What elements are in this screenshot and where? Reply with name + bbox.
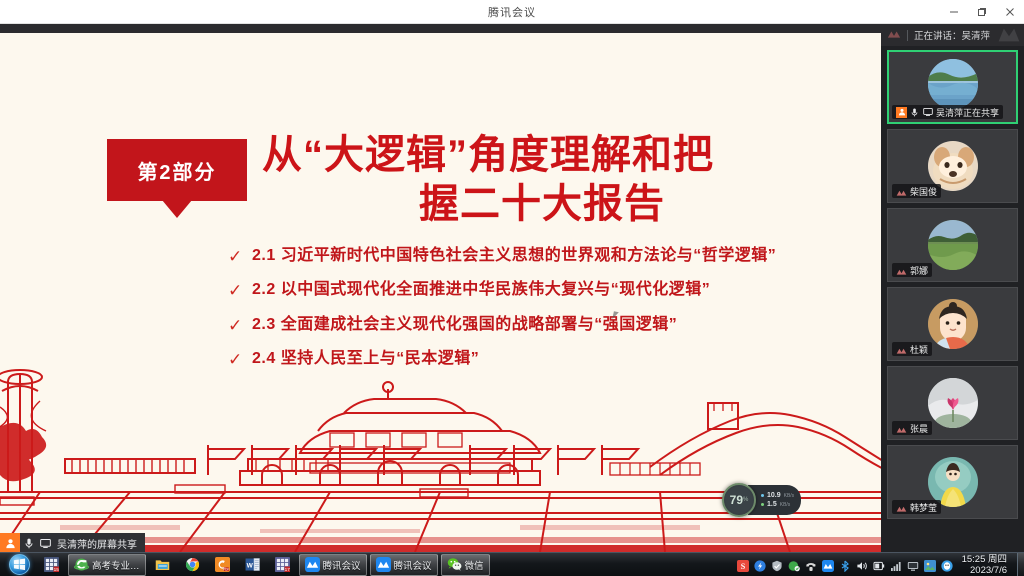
shield-icon[interactable] — [771, 559, 783, 571]
svg-text:15: 15 — [54, 567, 59, 572]
system-tray: S — [737, 554, 1013, 576]
maximize-restore-button[interactable] — [968, 0, 996, 24]
window-controls — [940, 0, 1024, 24]
phone-icon[interactable] — [805, 559, 817, 571]
slide-bullet-list: ✓ 2.1 习近平新时代中国特色社会主义思想的世界观和方法论与“哲学逻辑” ✓ … — [228, 246, 868, 383]
svg-text:S: S — [740, 562, 745, 571]
shared-screen-area[interactable]: 第2部分 从“大逻辑”角度理解和把 握二十大报告 ✓ 2.1 习近平新时代中国特… — [0, 33, 881, 552]
tiananmen-papercut-illustration — [0, 367, 881, 552]
presenter-avatar-icon — [896, 107, 907, 118]
avatar — [928, 299, 978, 349]
taskbar-item-tiles-app-2[interactable]: 17 — [269, 554, 296, 576]
taskbar-item-browser-window[interactable]: 高考专业… — [68, 554, 146, 576]
meeting-body: 第2部分 从“大逻辑”角度理解和把 握二十大报告 ✓ 2.1 习近平新时代中国特… — [0, 24, 1024, 552]
windows-taskbar: 15 高考专业… — [0, 552, 1024, 576]
tencent-meeting-logo-icon — [887, 28, 901, 42]
window-title: 腾讯会议 — [488, 4, 536, 20]
wechat-icon — [447, 557, 462, 572]
upload-value: 10.9 — [767, 492, 781, 499]
clock-date: 2023/7/6 — [962, 565, 1007, 576]
microphone-icon — [910, 107, 919, 118]
list-item: ✓ 2.2 以中国式现代化全面推进中华民族伟大复兴与“现代化逻辑” — [228, 280, 868, 301]
close-button[interactable] — [996, 0, 1024, 24]
screen-share-icon — [922, 107, 933, 118]
participant-tile-sharing[interactable]: 吴清萍正在共享 — [887, 50, 1018, 124]
check-icon: ✓ — [228, 246, 252, 267]
show-desktop-button[interactable] — [1017, 553, 1024, 576]
bullet-text: 2.4 坚持人民至上与“民本逻辑” — [252, 349, 479, 369]
download-unit: KB/s — [780, 502, 791, 508]
avatar — [928, 378, 978, 428]
participant-tile[interactable]: 柴国俊 — [887, 129, 1018, 203]
antivirus-icon[interactable] — [788, 559, 800, 571]
tencent-meeting-logo-icon — [896, 186, 907, 197]
participant-name: 郭娜 — [910, 264, 928, 277]
taskbar-item-tencent-meeting-1[interactable]: 腾讯会议 — [299, 554, 367, 576]
cpu-usage-value: 79 — [730, 493, 743, 507]
display-icon[interactable] — [907, 559, 919, 571]
screen-share-status-text: 吴清萍的屏幕共享 — [54, 536, 145, 551]
meeting-app-window: 腾讯会议 — [0, 0, 1024, 576]
presenter-avatar-icon — [0, 533, 20, 552]
screen-share-icon — [37, 533, 54, 552]
participant-tile[interactable]: 韩梦莹 — [887, 445, 1018, 519]
microphone-icon — [20, 533, 37, 552]
divider — [907, 30, 908, 41]
taskbar-clock[interactable]: 15:25 周四 2023/7/6 — [958, 554, 1007, 576]
active-speaker-text: 正在讲话：吴清萍 — [914, 28, 990, 42]
network-icon[interactable] — [890, 559, 902, 571]
shared-screen-top-strip — [0, 24, 881, 33]
download-arrow-icon — [761, 503, 764, 506]
cpu-usage-unit: % — [743, 497, 748, 503]
slide-title-line1: 从“大逻辑”角度理解和把 — [262, 131, 822, 180]
participant-tile[interactable]: 杜颖 — [887, 287, 1018, 361]
participant-name: 韩梦莹 — [910, 501, 937, 514]
tencent-meeting-logo-icon — [896, 502, 907, 513]
taskbar-item-chrome[interactable] — [179, 554, 206, 576]
slide-title: 从“大逻辑”角度理解和把 握二十大报告 — [262, 131, 822, 229]
mouse-cursor — [612, 311, 621, 320]
upload-row: 10.9 KB/s — [761, 492, 794, 499]
participant-name: 柴国俊 — [910, 185, 937, 198]
participant-name-bar: 柴国俊 — [892, 184, 941, 198]
volume-icon[interactable] — [856, 559, 868, 571]
qq-icon[interactable] — [941, 559, 953, 571]
tencent-meeting-logo-icon — [896, 423, 907, 434]
bluetooth-icon[interactable] — [839, 559, 851, 571]
participant-tile[interactable]: 郭娜 — [887, 208, 1018, 282]
participant-name-bar: 吴清萍正在共享 — [892, 105, 1003, 119]
word-icon: W — [245, 557, 260, 572]
window-title-bar: 腾讯会议 — [0, 0, 1024, 24]
check-icon: ✓ — [228, 349, 252, 370]
slide-part-badge-label: 第2部分 — [137, 156, 216, 185]
taskbar-item-word[interactable]: W — [239, 554, 266, 576]
svg-text:PDF: PDF — [223, 567, 229, 571]
participant-name-bar: 韩梦莹 — [892, 500, 941, 514]
svg-text:17: 17 — [284, 567, 289, 572]
participant-tiles: 吴清萍正在共享 — [881, 46, 1024, 519]
list-item: ✓ 2.4 坚持人民至上与“民本逻辑” — [228, 349, 868, 370]
download-row: 1.5 KB/s — [761, 501, 794, 508]
bullet-text: 2.1 习近平新时代中国特色社会主义思想的世界观和方法论与“哲学逻辑” — [252, 246, 776, 266]
sogou-input-icon[interactable]: S — [737, 559, 749, 571]
participant-name: 吴清萍正在共享 — [936, 106, 999, 119]
tiles-app-icon-2: 17 — [275, 557, 290, 572]
taskbar-item-label: 微信 — [465, 558, 484, 572]
tencent-meeting-tray-icon[interactable] — [822, 559, 834, 571]
participants-rail: 正在讲话：吴清萍 — [881, 24, 1024, 552]
taskbar-item-label: 腾讯会议 — [323, 558, 361, 572]
watermark-logo-icon — [998, 26, 1020, 44]
participant-tile[interactable]: 张晨 — [887, 366, 1018, 440]
picture-icon[interactable] — [924, 559, 936, 571]
list-item: ✓ 2.3 全面建成社会主义现代化强国的战略部署与“强国逻辑” — [228, 315, 868, 336]
active-speaker-bar: 正在讲话：吴清萍 — [881, 24, 1024, 46]
taskbar-item-tencent-meeting-2[interactable]: 腾讯会议 — [370, 554, 438, 576]
taskbar-item-label: 腾讯会议 — [394, 558, 432, 572]
check-icon: ✓ — [228, 280, 252, 301]
tencent-meeting-logo-icon — [896, 344, 907, 355]
download-value: 1.5 — [767, 501, 777, 508]
participant-name: 杜颖 — [910, 343, 928, 356]
tencent-meeting-logo-icon — [896, 265, 907, 276]
chrome-icon — [185, 557, 200, 572]
start-button[interactable] — [0, 553, 38, 576]
taskbar-item-pdf-reader[interactable]: PDF — [209, 554, 236, 576]
avatar — [928, 59, 978, 109]
internet-explorer-icon — [74, 557, 89, 572]
tencent-meeting-icon — [376, 557, 391, 572]
pdf-reader-icon: PDF — [215, 557, 230, 572]
minimize-button[interactable] — [940, 0, 968, 24]
participant-name: 张晨 — [910, 422, 928, 435]
taskbar-item-file-explorer[interactable] — [149, 554, 176, 576]
list-item: ✓ 2.1 习近平新时代中国特色社会主义思想的世界观和方法论与“哲学逻辑” — [228, 246, 868, 267]
tiles-app-icon: 15 — [44, 557, 59, 572]
upload-arrow-icon — [761, 494, 764, 497]
bullet-text: 2.2 以中国式现代化全面推进中华民族伟大复兴与“现代化逻辑” — [252, 280, 710, 300]
check-icon: ✓ — [228, 315, 252, 336]
taskbar-item-wechat[interactable]: 微信 — [441, 554, 490, 576]
windows-logo-icon — [9, 554, 30, 575]
thunder-icon[interactable] — [754, 559, 766, 571]
cpu-usage-ring: 79% — [722, 483, 756, 517]
presentation-slide: 第2部分 从“大逻辑”角度理解和把 握二十大报告 ✓ 2.1 习近平新时代中国特… — [0, 33, 881, 552]
screen-share-status-pill: 吴清萍的屏幕共享 — [0, 533, 145, 552]
slide-title-line2: 握二十大报告 — [262, 180, 822, 229]
participant-name-bar: 张晨 — [892, 421, 932, 435]
svg-text:W: W — [246, 562, 253, 569]
upload-unit: KB/s — [784, 493, 795, 499]
avatar — [928, 220, 978, 270]
taskbar-item-label: 高考专业… — [92, 558, 140, 572]
slide-part-badge: 第2部分 — [107, 139, 247, 201]
battery-icon[interactable] — [873, 559, 885, 571]
taskbar-item-tiles-app[interactable]: 15 — [38, 554, 65, 576]
performance-overlay-widget[interactable]: 79% 10.9 KB/s 1.5 KB/s — [722, 483, 801, 517]
tencent-meeting-icon — [305, 557, 320, 572]
clock-time: 15:25 周四 — [962, 554, 1007, 565]
folder-explorer-icon — [155, 557, 170, 572]
participant-name-bar: 杜颖 — [892, 342, 932, 356]
participant-name-bar: 郭娜 — [892, 263, 932, 277]
